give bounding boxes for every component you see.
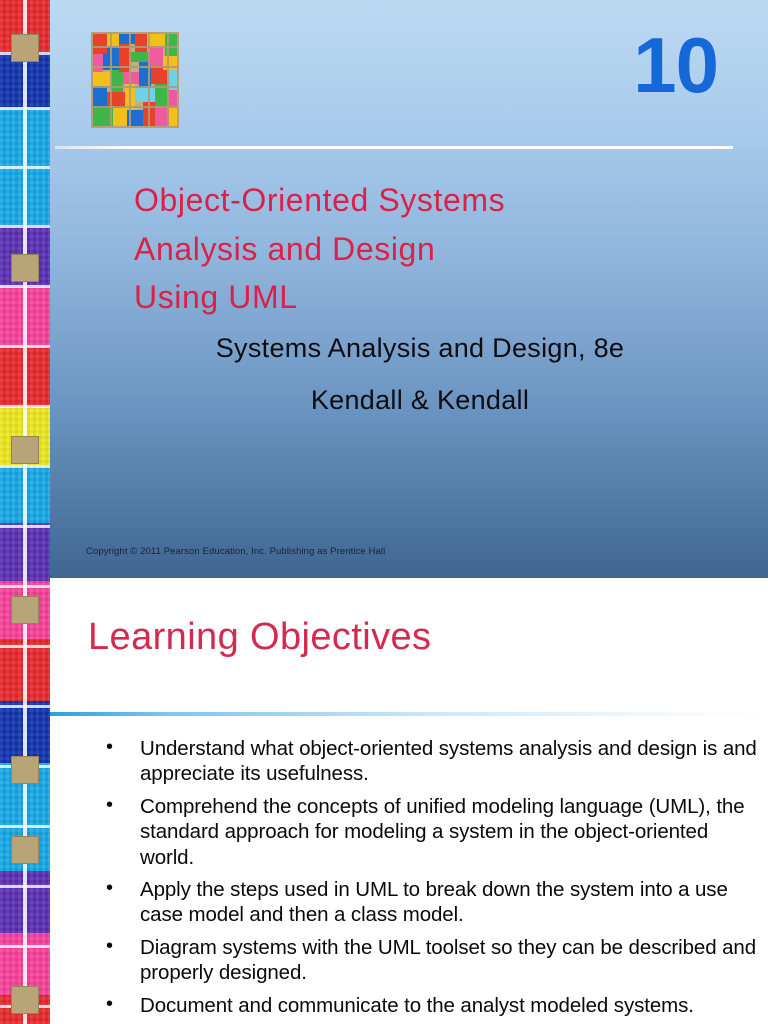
bullet-marker-icon: • [106,876,113,901]
lattice-horizontal-line [0,885,50,888]
list-item: •Apply the steps used in UML to break do… [90,877,762,928]
logo-grid-overlay [93,34,177,126]
title-slide: 10 Object-Oriented Systems Analysis and … [50,0,768,578]
bullet-marker-icon: • [106,992,113,1017]
decorative-quilt-sidebar [0,0,50,1024]
title-block: Object-Oriented Systems Analysis and Des… [134,176,734,322]
page-title: Learning Objectives [88,616,431,659]
title-divider-rule [55,146,733,149]
list-item-label: Apply the steps used in UML to break dow… [140,878,728,926]
authors-subtitle: Kendall & Kendall [100,385,740,416]
lattice-horizontal-line [0,645,50,648]
slide-deck-page: 10 Object-Oriented Systems Analysis and … [0,0,768,1024]
lattice-horizontal-line [0,465,50,468]
lattice-horizontal-line [0,825,50,828]
objectives-bullet-list: •Understand what object-oriented systems… [90,736,762,1024]
lattice-horizontal-line [0,405,50,408]
lattice-horizontal-line [0,166,50,169]
list-item: •Comprehend the concepts of unified mode… [90,794,762,870]
list-item-label: Comprehend the concepts of unified model… [140,795,745,869]
title-line-3: Using UML [134,273,734,322]
quilt-knot-square [11,836,39,864]
title-line-2: Analysis and Design [134,225,734,274]
uml-mosaic-logo [91,32,179,128]
quilt-knot-square [11,986,39,1014]
lattice-horizontal-line [0,225,50,228]
quilt-knot-square [11,34,39,62]
bullet-marker-icon: • [106,934,113,959]
title-line-1: Object-Oriented Systems [134,176,734,225]
heading-divider-rule [50,712,768,716]
list-item: •Document and communicate to the analyst… [90,993,762,1018]
quilt-knot-square [11,254,39,282]
lattice-horizontal-line [0,285,50,288]
list-item-label: Diagram systems with the UML toolset so … [140,936,756,984]
bullet-marker-icon: • [106,793,113,818]
list-item-label: Understand what object-oriented systems … [140,737,757,785]
lattice-horizontal-line [0,525,50,528]
lattice-horizontal-line [0,705,50,708]
quilt-knot-square [11,436,39,464]
lattice-horizontal-line [0,945,50,948]
list-item: •Understand what object-oriented systems… [90,736,762,787]
book-title-subtitle: Systems Analysis and Design, 8e [100,333,740,364]
chapter-number: 10 [633,26,718,104]
quilt-knot-square [11,756,39,784]
lattice-horizontal-line [0,107,50,110]
bullet-marker-icon: • [106,735,113,760]
list-item-label: Document and communicate to the analyst … [140,994,694,1017]
learning-objectives-slide: Learning Objectives •Understand what obj… [50,578,768,1024]
lattice-horizontal-line [0,345,50,348]
quilt-knot-square [11,596,39,624]
lattice-horizontal-line [0,585,50,588]
list-item: •Diagram systems with the UML toolset so… [90,935,762,986]
lattice-vertical-line [23,0,27,1024]
copyright-notice: Copyright © 2011 Pearson Education, Inc.… [86,546,385,557]
